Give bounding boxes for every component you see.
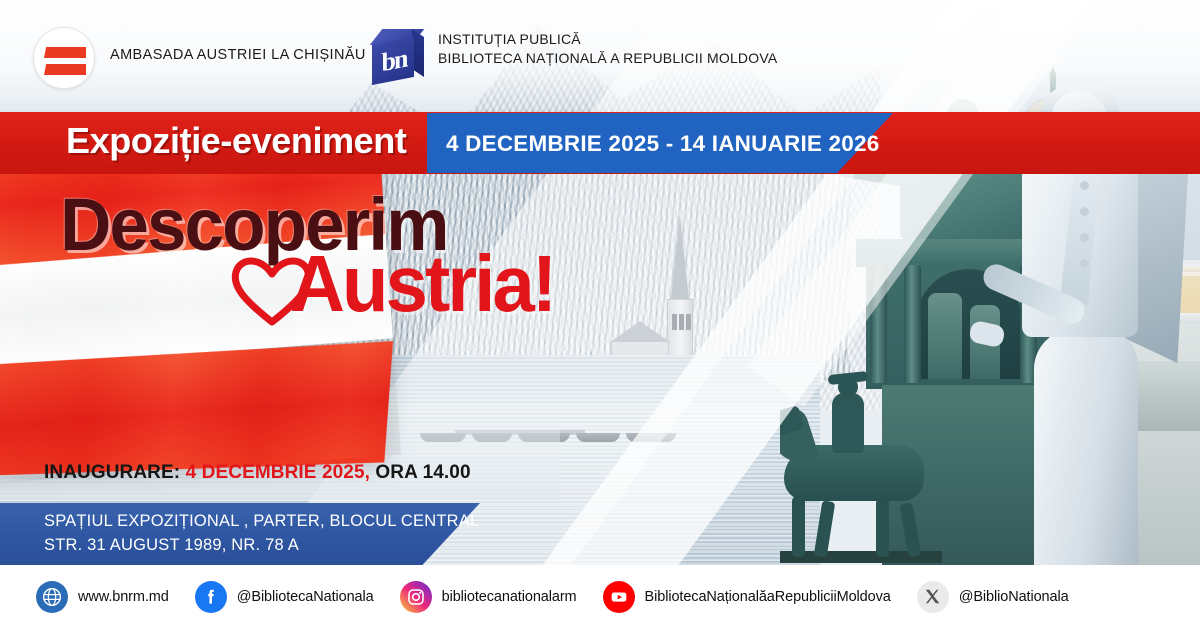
instagram-icon	[400, 581, 432, 613]
library-title-line2: BIBLIOTECA NAȚIONALĂ A REPUBLICII MOLDOV…	[438, 49, 777, 68]
website-globe-icon	[36, 581, 68, 613]
venue-line2: STR. 31 AUGUST 1989, NR. 78 A	[44, 536, 299, 555]
opening-date: 4 DECEMBRIE 2025,	[186, 462, 370, 483]
x-twitter-icon	[917, 581, 949, 613]
social-item-website[interactable]: www.bnrm.md	[36, 581, 169, 613]
social-item-instagram[interactable]: bibliotecanationalarm	[400, 581, 577, 613]
facebook-icon	[195, 581, 227, 613]
opening-time: ORA 14.00	[375, 462, 470, 483]
embassy-title: AMBASADA AUSTRIEI LA CHIȘINĂU	[110, 47, 366, 63]
instagram-handle[interactable]: bibliotecanationalarm	[442, 589, 577, 605]
event-type-label: Expoziție-eveniment	[66, 120, 406, 162]
facebook-handle[interactable]: @BibliotecaNationala	[237, 589, 374, 605]
social-item-facebook[interactable]: @BibliotecaNationala	[195, 581, 374, 613]
headline-line2: Austria!	[290, 238, 554, 330]
opening-info: INAUGURARE: 4 DECEMBRIE 2025, ORA 14.00	[44, 462, 471, 484]
venue-line1: SPAȚIUL EXPOZIȚIONAL , PARTER, BLOCUL CE…	[44, 512, 479, 531]
date-range-label: 4 DECEMBRIE 2025 - 14 IANUARIE 2026	[446, 131, 879, 157]
social-item-x[interactable]: @BiblioNationala	[917, 581, 1069, 613]
library-title-block: INSTITUȚIA PUBLICĂ BIBLIOTECA NAȚIONALĂ …	[438, 30, 777, 68]
youtube-handle[interactable]: BibliotecaNaționalăaRepubliciiMoldova	[645, 589, 891, 605]
poster-root: AMBASADA AUSTRIEI LA CHIȘINĂU bn INSTITU…	[0, 0, 1200, 628]
website-handle[interactable]: www.bnrm.md	[78, 589, 169, 605]
opening-label: INAUGURARE:	[44, 462, 180, 483]
youtube-icon	[603, 581, 635, 613]
library-title-line1: INSTITUȚIA PUBLICĂ	[438, 30, 777, 49]
social-footer: www.bnrm.md @BibliotecaNationala bibliot…	[0, 565, 1200, 628]
social-item-youtube[interactable]: BibliotecaNaționalăaRepubliciiMoldova	[603, 581, 891, 613]
bnrm-cube-logo-icon: bn	[368, 27, 426, 85]
x-handle[interactable]: @BiblioNationala	[959, 589, 1069, 605]
poster-header: AMBASADA AUSTRIEI LA CHIȘINĂU bn INSTITU…	[0, 0, 1200, 110]
austria-flag-roundel-icon	[33, 27, 95, 89]
